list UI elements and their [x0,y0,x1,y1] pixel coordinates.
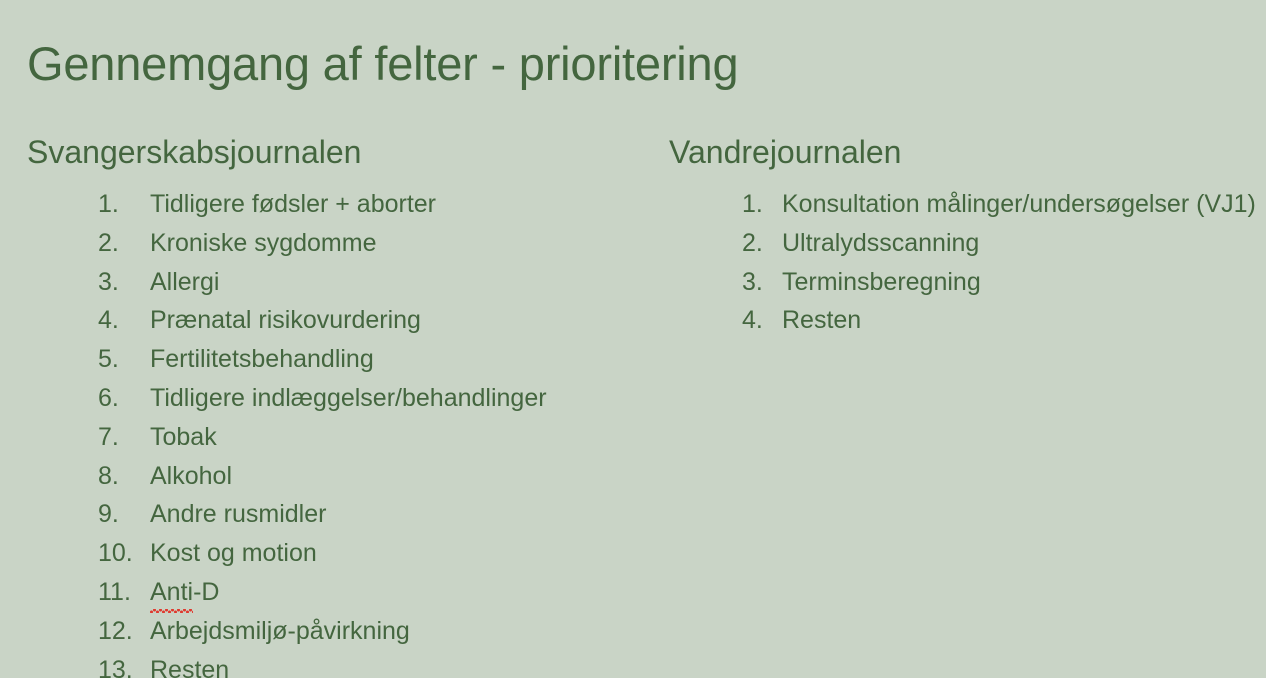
list-item-label: Arbejdsmiljø-påvirkning [150,612,410,651]
list-item-label: Tidligere indlæggelser/behandlinger [150,379,547,418]
list-item-label: Tobak [150,418,217,457]
list-item: 6. Tidligere indlæggelser/behandlinger [27,379,647,418]
list-item-number: 13. [98,651,150,678]
list-item-label: Resten [782,301,861,340]
list-item: 4. Prænatal risikovurdering [27,301,647,340]
list-item-number: 3. [98,263,150,302]
list-item: 3. Allergi [27,263,647,302]
list-item-number: 7. [98,418,150,457]
list-item: 10. Kost og motion [27,534,647,573]
list-item: 13. Resten [27,651,647,678]
list-item-number: 12. [98,612,150,651]
list-item-label: Anti-D [150,573,219,612]
list-item-label: Terminsberegning [782,263,981,302]
page-title: Gennemgang af felter - prioritering [27,35,738,93]
list-item-number: 1. [742,185,782,224]
list-item-label: Tidligere fødsler + aborter [150,185,436,224]
list-item-label: Resten [150,651,229,678]
priority-list-left: 1. Tidligere fødsler + aborter 2. Kronis… [27,185,647,678]
list-item: 2. Ultralydsscanning [669,224,1259,263]
list-item-number: 9. [98,495,150,534]
list-item-label: Kost og motion [150,534,317,573]
list-item-label: Allergi [150,263,219,302]
column-vandrejournalen: Vandrejournalen 1. Konsultation målinger… [669,131,1259,340]
list-item-label: Fertilitetsbehandling [150,340,374,379]
list-item: 2. Kroniske sygdomme [27,224,647,263]
list-item-label: Konsultation målinger/undersøgelser (VJ1… [782,185,1256,224]
list-item-number: 8. [98,457,150,496]
list-item-label-rest: -D [193,578,219,606]
list-item: 1. Konsultation målinger/undersøgelser (… [669,185,1259,224]
list-item: 7. Tobak [27,418,647,457]
list-item-number: 6. [98,379,150,418]
list-item: 8. Alkohol [27,457,647,496]
list-item-number: 3. [742,263,782,302]
list-item-number: 10. [98,534,150,573]
list-item-number: 1. [98,185,150,224]
list-item-label: Kroniske sygdomme [150,224,376,263]
list-item-label: Ultralydsscanning [782,224,979,263]
priority-list-right: 1. Konsultation målinger/undersøgelser (… [669,185,1259,340]
list-item-number: 4. [742,301,782,340]
list-item: 4. Resten [669,301,1259,340]
list-item: 12. Arbejdsmiljø-påvirkning [27,612,647,651]
column-svangerskabsjournalen: Svangerskabsjournalen 1. Tidligere fødsl… [27,131,647,678]
list-item-label: Prænatal risikovurdering [150,301,421,340]
list-item: 5. Fertilitetsbehandling [27,340,647,379]
slide: Gennemgang af felter - prioritering Svan… [0,0,1266,678]
list-item-number: 2. [742,224,782,263]
list-item: 11. Anti-D [27,573,647,612]
column-heading-right: Vandrejournalen [669,131,1259,173]
list-item-number: 5. [98,340,150,379]
column-heading-left: Svangerskabsjournalen [27,131,647,173]
list-item-number: 4. [98,301,150,340]
list-item-label: Alkohol [150,457,232,496]
list-item: 3. Terminsberegning [669,263,1259,302]
list-item: 9. Andre rusmidler [27,495,647,534]
list-item-number: 2. [98,224,150,263]
list-item-number: 11. [98,573,150,612]
spellcheck-underlined-word: Anti [150,573,193,612]
list-item-label: Andre rusmidler [150,495,326,534]
list-item: 1. Tidligere fødsler + aborter [27,185,647,224]
